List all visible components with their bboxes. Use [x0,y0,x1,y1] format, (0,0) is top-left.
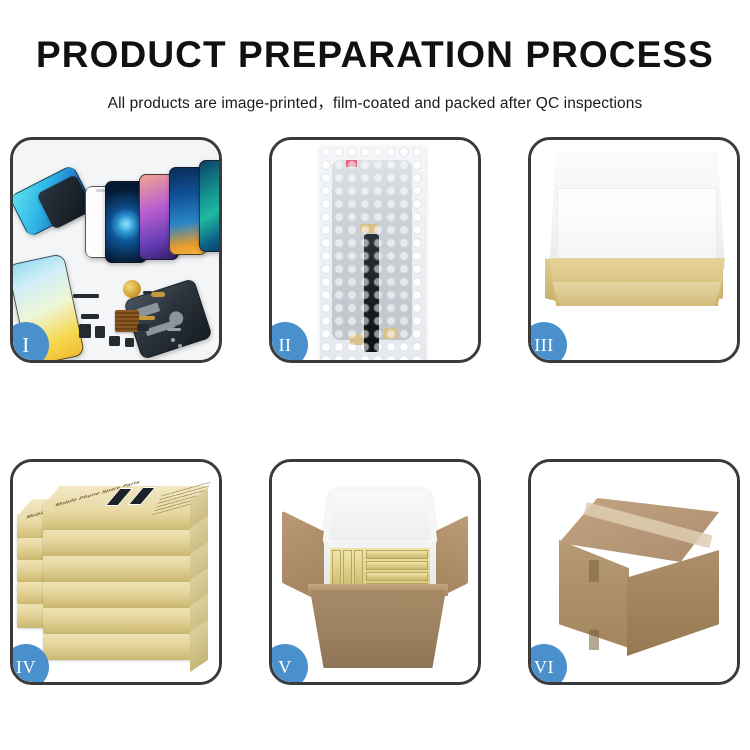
antenna-flex [139,316,155,320]
screw-a [171,338,175,342]
box-screen-graphic-b [128,487,156,505]
packed-box-5 [366,561,428,570]
stack-box-2 [43,530,193,556]
power-button-flex [143,291,152,294]
box-stack: Mobile Phone Spare Parts Mobile Phone Sp… [13,462,219,682]
step-1-image: ▮ [13,140,219,360]
step-numeral-1: I [22,333,30,358]
stack-box-6 [43,634,193,660]
foam-cooler-lid [322,487,438,547]
tweezers [167,328,181,331]
carton-seam-lower [589,630,599,650]
bubble-wrap-bag [320,146,426,360]
packed-box-4 [366,550,428,559]
stack-box-5 [43,608,193,634]
page-title: PRODUCT PREPARATION PROCESS [0,0,750,73]
volume-flex [81,314,99,319]
step-panel-3[interactable]: Open yellow kraft cardboard box lined wi… [528,137,740,363]
spare-parts-cluster [75,280,185,358]
vibration-motor [123,280,141,298]
steps-grid: ▮ [10,137,740,685]
stack-box-4 [43,582,193,608]
step-numeral-6: VI [534,657,554,678]
taptic-engine [109,336,120,346]
stack-box-top: Mobile Phone Spare Parts [43,502,193,532]
step-numeral-2: II [279,335,292,356]
step-4-image: Mobile Phone Spare Parts Mobile Phone Sp… [13,462,219,682]
step-numeral-4: IV [16,657,36,678]
product-preparation-infographic: PRODUCT PREPARATION PROCESS All products… [0,0,750,750]
step-6-image: Sealed brown corrugated shipping carton … [531,462,737,682]
white-foam-sheet [557,188,717,266]
carton-body [310,590,446,668]
step-numeral-5: V [278,657,292,678]
wallpaper-glow [111,207,141,241]
carton-seam-upper [589,560,599,582]
header: PRODUCT PREPARATION PROCESS All products… [0,0,750,113]
step-5-image: Open brown corrugated carton containing … [272,462,478,682]
step-3-image: Open yellow kraft cardboard box lined wi… [531,140,737,360]
stack-box-3 [43,556,193,582]
page-subtitle: All products are image-printed，film-coat… [0,73,750,113]
step-panel-2[interactable]: Single LCD screen assembly with flex cab… [269,137,481,363]
sim-tray [95,326,105,338]
speaker-module [79,324,91,338]
step-panel-6[interactable]: Sealed brown corrugated shipping carton … [528,459,740,685]
kraft-box-front-wall [551,282,723,306]
step-panel-5[interactable]: Open brown corrugated carton containing … [269,459,481,685]
phone-display-teal-wave [199,160,219,252]
step-numeral-3: III [534,335,553,356]
connector-grid-chip [115,310,139,332]
packed-box-6 [366,572,428,581]
step-panel-1[interactable]: ▮ [10,137,222,363]
earpiece-mesh [73,294,99,298]
flex-connector-gold [151,292,165,297]
step-panel-4[interactable]: Mobile Phone Spare Parts Mobile Phone Sp… [10,459,222,685]
box-top-face: Mobile Phone Spare Parts [43,486,210,506]
bubble-texture [320,146,426,360]
screw-b [178,344,182,348]
step-2-image: Single LCD screen assembly with flex cab… [272,140,478,360]
front-camera [137,324,149,331]
charging-port [125,338,134,347]
